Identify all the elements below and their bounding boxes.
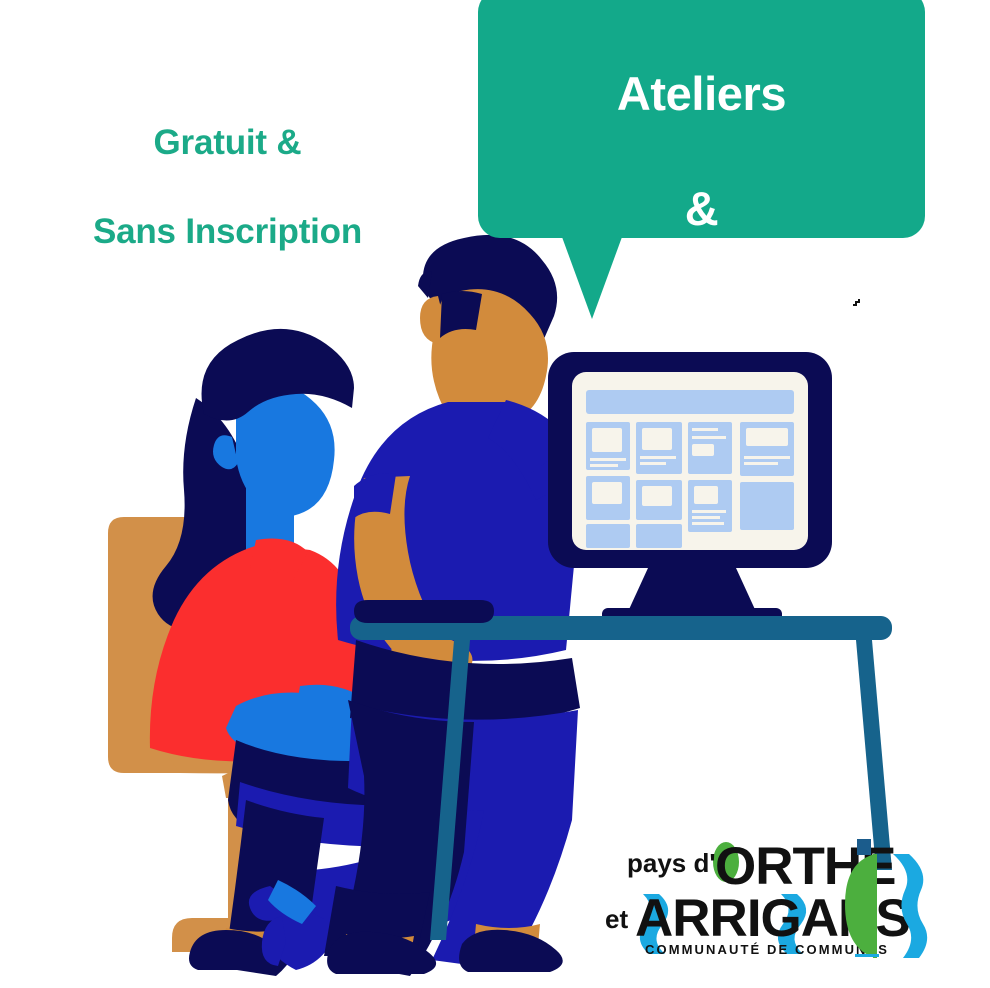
man-ankle-right xyxy=(474,924,540,950)
man-neck xyxy=(448,372,508,440)
man-trouser-left xyxy=(334,700,474,976)
logo-emblem-navy-tick xyxy=(857,839,871,855)
woman-neck xyxy=(246,470,294,552)
man-left-arm xyxy=(354,476,446,660)
office-chair xyxy=(108,517,394,952)
poster-canvas: Gratuit & Sans Inscription Ateliers & Ca… xyxy=(0,0,990,988)
tagline-line-2: Sans Inscription xyxy=(55,210,400,255)
man-trousers xyxy=(348,704,578,970)
screen-header-bar xyxy=(586,390,794,414)
man-tshirt xyxy=(336,402,580,661)
woman-sock xyxy=(268,880,316,924)
man-hips xyxy=(350,640,580,729)
speech-bubble: Ateliers & Café - débats xyxy=(478,0,925,238)
man-left-sleeve xyxy=(354,473,396,518)
speech-bubble-tail xyxy=(562,237,622,319)
logo-pays-d-text: pays d' xyxy=(627,848,716,878)
man-left-hand xyxy=(390,635,472,674)
man-right-sleeve xyxy=(530,452,624,564)
woman-leg-lower xyxy=(292,846,448,952)
desktop-monitor xyxy=(548,352,832,624)
desk-top xyxy=(350,616,892,640)
woman-ankle xyxy=(222,928,282,959)
woman-shirt xyxy=(150,544,372,762)
logo-subtitle-text: COMMUNAUTÉ DE COMMUNES xyxy=(645,942,889,957)
tagline: Gratuit & Sans Inscription xyxy=(55,76,400,300)
woman-arm xyxy=(226,693,446,790)
man-shoe-right xyxy=(459,930,563,972)
woman-lap xyxy=(228,740,518,845)
monitor-base xyxy=(602,608,782,624)
man-ankle-left xyxy=(344,934,414,961)
man-right-arm xyxy=(554,461,682,551)
woman-ear xyxy=(213,435,238,469)
tagline-line-1: Gratuit & xyxy=(55,121,400,166)
man-shoe-left xyxy=(327,932,436,974)
woman-heel-shoe xyxy=(249,886,338,970)
woman-hand xyxy=(380,733,466,780)
woman-hair-back xyxy=(153,398,256,629)
keyboard xyxy=(354,600,494,623)
man-hand-knuckle xyxy=(596,430,640,446)
woman-leg-dark xyxy=(224,800,324,976)
monitor-stand xyxy=(626,568,758,616)
logo-et-text: et xyxy=(605,904,628,934)
computer-mouse xyxy=(356,772,480,797)
woman-face xyxy=(236,383,335,516)
speech-bubble-text: Ateliers & Café - débats xyxy=(478,8,925,352)
bubble-line-2: & xyxy=(685,182,719,235)
woman-leg-upper xyxy=(236,782,532,948)
logo-pays-d-orthe-et-arrigans: pays d' ORTHE et ARRIGANS COMMUNAUTÉ DE … xyxy=(605,836,950,958)
man-ear xyxy=(420,296,444,344)
woman-hair-top xyxy=(202,329,354,421)
woman-shoe xyxy=(189,930,281,970)
desk-leg-left xyxy=(430,640,470,940)
bubble-line-1: Ateliers xyxy=(617,67,786,120)
